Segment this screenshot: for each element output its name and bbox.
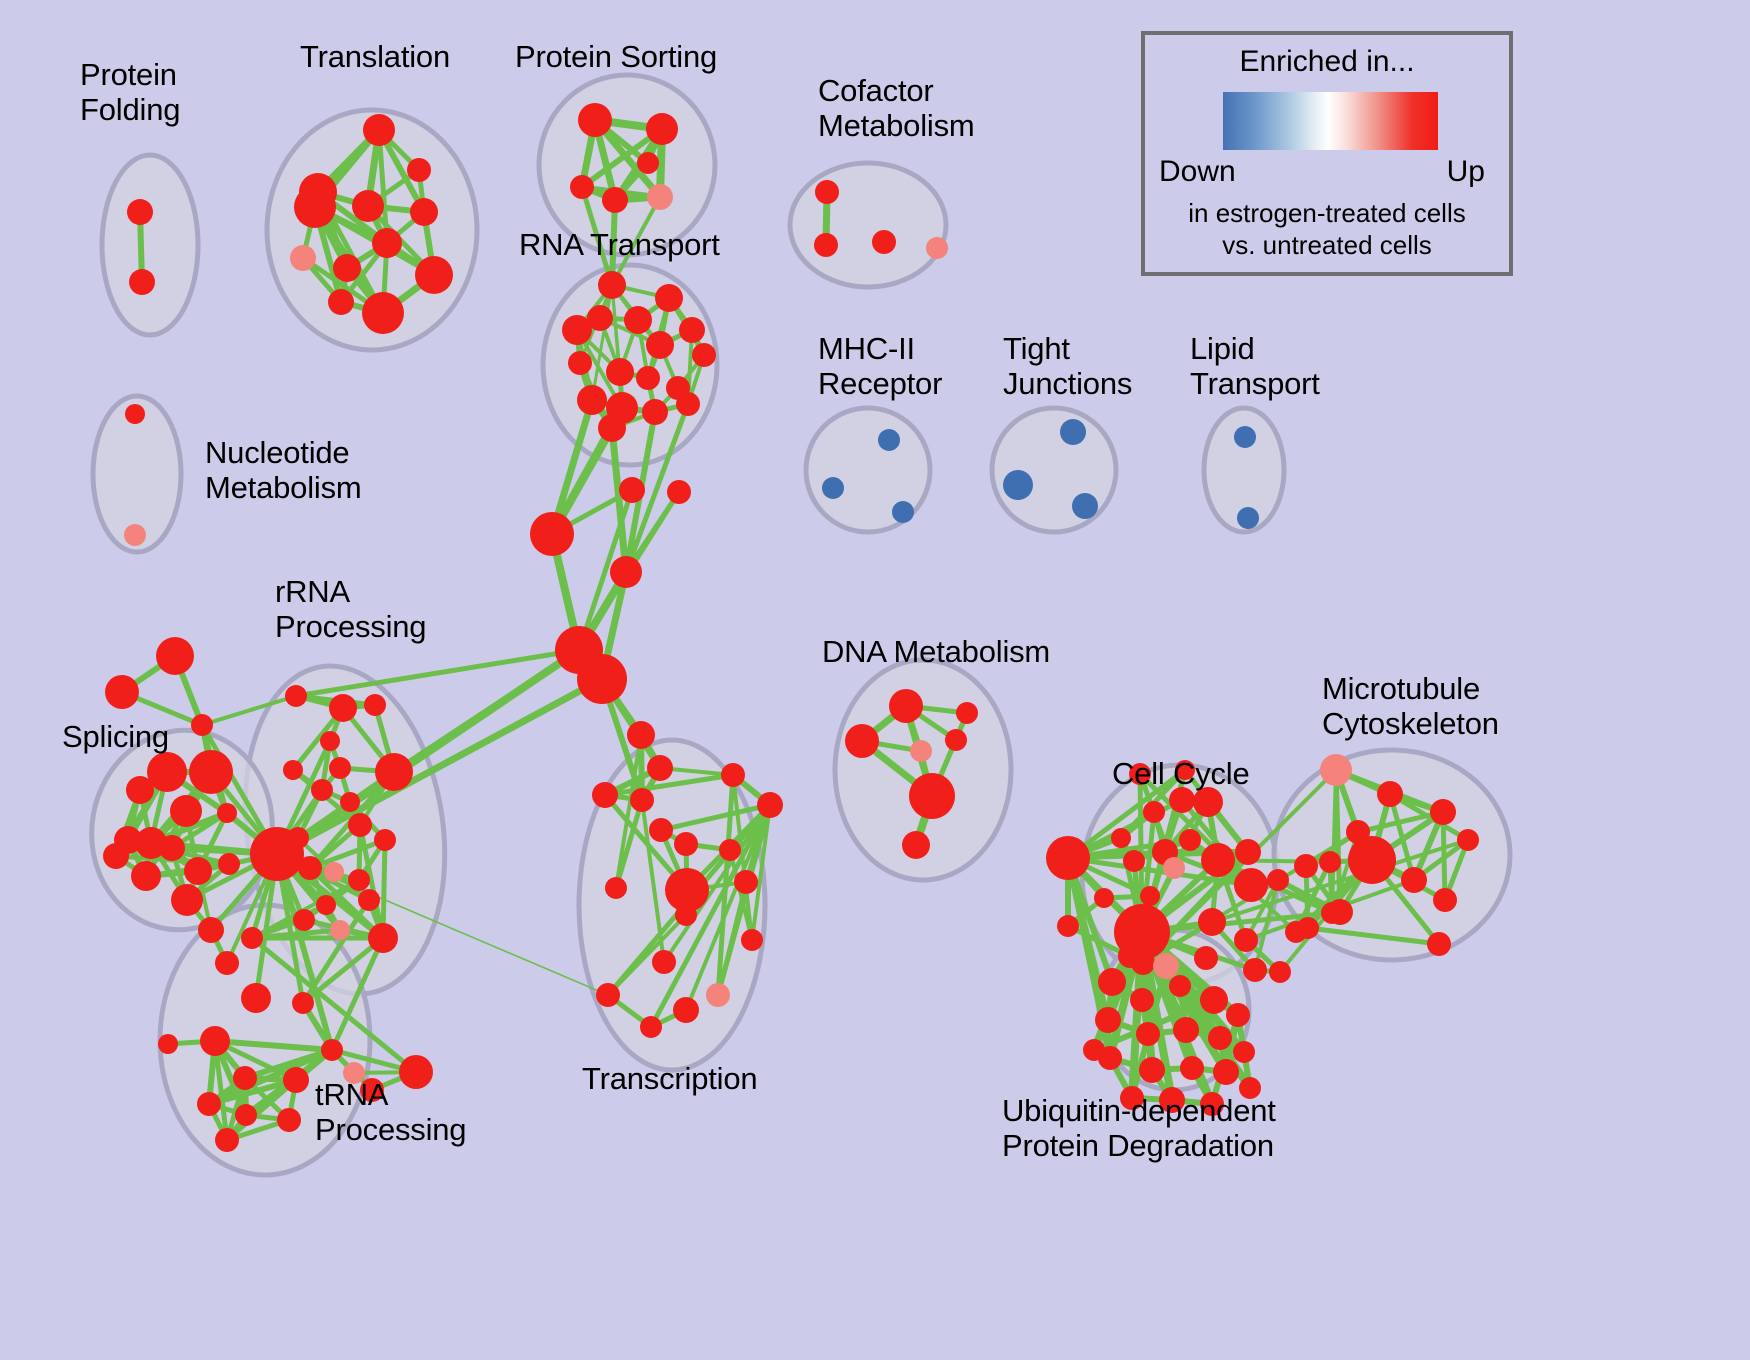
network-node[interactable] (1294, 854, 1318, 878)
network-node[interactable] (926, 237, 948, 259)
network-node[interactable] (368, 923, 398, 953)
network-node[interactable] (415, 256, 453, 294)
network-node[interactable] (191, 714, 213, 736)
network-node[interactable] (647, 755, 673, 781)
network-node[interactable] (362, 292, 404, 334)
network-node[interactable] (1243, 958, 1267, 982)
network-node[interactable] (103, 843, 129, 869)
network-node[interactable] (1401, 867, 1427, 893)
network-node[interactable] (679, 317, 705, 343)
network-node[interactable] (1433, 888, 1457, 912)
network-node[interactable] (674, 832, 698, 856)
network-node[interactable] (636, 366, 660, 390)
network-node[interactable] (293, 909, 315, 931)
legend-color-gradient-bar (1223, 92, 1438, 150)
network-node[interactable] (1123, 850, 1145, 872)
network-node[interactable] (1233, 1041, 1255, 1063)
network-node[interactable] (757, 792, 783, 818)
legend-subtitle-line1: in estrogen-treated cells (1145, 198, 1509, 230)
network-node[interactable] (171, 884, 203, 916)
network-node[interactable] (902, 831, 930, 859)
network-node[interactable] (602, 187, 628, 213)
legend-title: Enriched in... (1145, 45, 1509, 79)
network-node[interactable] (197, 1092, 221, 1116)
network-node[interactable] (822, 477, 844, 499)
network-node[interactable] (131, 861, 161, 891)
network-node[interactable] (348, 869, 370, 891)
network-node[interactable] (1234, 426, 1256, 448)
network-node[interactable] (105, 675, 139, 709)
network-node[interactable] (126, 776, 154, 804)
network-node[interactable] (577, 654, 627, 704)
network-node[interactable] (1083, 1039, 1105, 1061)
network-node[interactable] (1094, 888, 1114, 908)
network-node[interactable] (320, 731, 340, 751)
network-node[interactable] (363, 114, 395, 146)
network-node[interactable] (321, 1039, 343, 1061)
network-node[interactable] (1060, 419, 1086, 445)
cluster-label-trna-processing: tRNAProcessing (315, 1078, 466, 1147)
cluster-label-cell-cycle: Cell Cycle (1112, 757, 1250, 792)
network-node[interactable] (606, 358, 634, 386)
network-node[interactable] (646, 113, 678, 145)
network-node[interactable] (1457, 829, 1479, 851)
cluster-label-microtubule-cytoskeleton: MicrotubuleCytoskeleton (1322, 672, 1499, 741)
network-node[interactable] (340, 792, 360, 812)
network-node[interactable] (316, 895, 336, 915)
network-node[interactable] (637, 152, 659, 174)
network-node[interactable] (1234, 928, 1258, 952)
cluster-hull (992, 408, 1116, 532)
network-node[interactable] (215, 951, 239, 975)
network-node[interactable] (333, 254, 361, 282)
network-node[interactable] (667, 480, 691, 504)
network-node[interactable] (1194, 946, 1218, 970)
network-node[interactable] (910, 740, 932, 762)
legend-subtitle: in estrogen-treated cells vs. untreated … (1145, 198, 1509, 261)
network-node[interactable] (719, 839, 741, 861)
network-node[interactable] (587, 305, 613, 331)
network-node[interactable] (649, 818, 673, 842)
network-node[interactable] (170, 795, 202, 827)
network-node[interactable] (909, 773, 955, 819)
network-node[interactable] (1234, 868, 1268, 902)
cluster-label-ubiquitin-protein-degradation: Ubiquitin-dependentProtein Degradation (1002, 1094, 1276, 1163)
network-node[interactable] (218, 853, 240, 875)
network-node[interactable] (1163, 857, 1185, 879)
network-node[interactable] (845, 724, 879, 758)
network-node[interactable] (734, 870, 758, 894)
network-node[interactable] (1226, 1003, 1250, 1027)
network-node[interactable] (1319, 851, 1341, 873)
network-node[interactable] (364, 694, 386, 716)
network-node[interactable] (235, 1104, 257, 1126)
network-node[interactable] (184, 857, 212, 885)
network-node[interactable] (1208, 1026, 1232, 1050)
network-node[interactable] (1173, 1017, 1199, 1043)
network-node[interactable] (372, 228, 402, 258)
network-node[interactable] (1269, 961, 1291, 983)
network-node[interactable] (1057, 915, 1079, 937)
network-node[interactable] (375, 753, 413, 791)
network-node[interactable] (159, 835, 185, 861)
cluster-label-nucleotide-metabolism: NucleotideMetabolism (205, 436, 362, 505)
network-node[interactable] (328, 289, 354, 315)
network-node[interactable] (329, 694, 357, 722)
network-node[interactable] (605, 877, 627, 899)
network-node[interactable] (198, 917, 224, 943)
network-node[interactable] (1348, 836, 1396, 884)
cluster-label-splicing: Splicing (62, 720, 169, 755)
network-node[interactable] (352, 190, 384, 222)
network-node[interactable] (1095, 1007, 1121, 1033)
network-node[interactable] (741, 929, 763, 951)
network-node[interactable] (127, 199, 153, 225)
network-node[interactable] (294, 186, 336, 228)
network-node[interactable] (158, 1034, 178, 1054)
cluster-label-rna-transport: RNA Transport (519, 228, 720, 263)
network-node[interactable] (129, 269, 155, 295)
network-node[interactable] (241, 927, 263, 949)
network-node[interactable] (1180, 1056, 1204, 1080)
network-node[interactable] (292, 992, 314, 1014)
network-node[interactable] (1237, 507, 1259, 529)
network-node[interactable] (814, 233, 838, 257)
cluster-label-transcription: Transcription (582, 1062, 757, 1097)
network-node[interactable] (956, 702, 978, 724)
network-node[interactable] (530, 512, 574, 556)
network-node[interactable] (647, 184, 673, 210)
network-node[interactable] (1179, 829, 1201, 851)
network-node[interactable] (1200, 986, 1228, 1014)
network-node[interactable] (330, 920, 350, 940)
network-node[interactable] (578, 103, 612, 137)
network-node[interactable] (290, 245, 316, 271)
network-node[interactable] (233, 1066, 257, 1090)
network-node[interactable] (1327, 899, 1353, 925)
network-node[interactable] (1003, 470, 1033, 500)
network-node[interactable] (1136, 1022, 1160, 1046)
cluster-hull (790, 163, 946, 287)
network-node[interactable] (329, 757, 351, 779)
network-node[interactable] (1140, 886, 1160, 906)
network-node[interactable] (1118, 944, 1142, 968)
network-node[interactable] (570, 175, 594, 199)
network-node[interactable] (676, 392, 700, 416)
network-node[interactable] (1201, 843, 1235, 877)
network-node[interactable] (592, 782, 618, 808)
network-node[interactable] (630, 788, 654, 812)
cluster-label-lipid-transport: LipidTransport (1190, 332, 1320, 401)
network-node[interactable] (598, 271, 626, 299)
network-node[interactable] (1213, 1059, 1239, 1085)
network-node[interactable] (124, 524, 146, 546)
network-node[interactable] (815, 180, 839, 204)
network-node[interactable] (200, 1026, 230, 1056)
network-node[interactable] (1046, 836, 1090, 880)
network-node[interactable] (358, 889, 380, 911)
network-node[interactable] (1153, 953, 1179, 979)
network-node[interactable] (348, 813, 372, 837)
cluster-label-rrna-processing: rRNAProcessing (275, 575, 426, 644)
network-node[interactable] (1235, 839, 1261, 865)
network-node[interactable] (1267, 869, 1289, 891)
cluster-label-cofactor-metabolism: CofactorMetabolism (818, 74, 975, 143)
legend-subtitle-line2: vs. untreated cells (1145, 230, 1509, 262)
network-node[interactable] (311, 779, 333, 801)
network-node[interactable] (598, 414, 626, 442)
network-node[interactable] (872, 230, 896, 254)
cluster-label-mhc-ii-receptor: MHC-IIReceptor (818, 332, 942, 401)
network-node[interactable] (277, 1108, 301, 1132)
network-node[interactable] (215, 1128, 239, 1152)
network-node[interactable] (1098, 968, 1126, 996)
legend-down-label: Down (1159, 155, 1236, 189)
network-node[interactable] (692, 343, 716, 367)
network-node[interactable] (568, 351, 592, 375)
network-node[interactable] (285, 685, 307, 707)
network-node[interactable] (1169, 975, 1191, 997)
network-node[interactable] (283, 760, 303, 780)
network-figure: ProteinFolding Translation Protein Sorti… (0, 0, 1750, 1360)
network-node[interactable] (892, 501, 914, 523)
network-node[interactable] (624, 306, 652, 334)
cluster-label-tight-junctions: TightJunctions (1003, 332, 1132, 401)
network-node[interactable] (627, 721, 655, 749)
network-node[interactable] (1430, 799, 1456, 825)
network-node[interactable] (156, 637, 194, 675)
network-node[interactable] (283, 1067, 309, 1093)
network-node[interactable] (125, 404, 145, 424)
network-node[interactable] (655, 284, 683, 312)
network-node[interactable] (1143, 801, 1165, 823)
network-node[interactable] (596, 983, 620, 1007)
network-node[interactable] (619, 477, 645, 503)
network-node[interactable] (407, 158, 431, 182)
network-node[interactable] (642, 399, 668, 425)
network-node[interactable] (577, 385, 607, 415)
network-node[interactable] (878, 429, 900, 451)
network-node[interactable] (610, 556, 642, 588)
network-node[interactable] (945, 729, 967, 751)
legend-up-label: Up (1447, 155, 1485, 189)
cluster-label-translation: Translation (300, 40, 450, 75)
network-node[interactable] (250, 827, 304, 881)
network-node[interactable] (189, 750, 233, 794)
cluster-label-protein-folding: ProteinFolding (80, 58, 180, 127)
legend-box: Enriched in... Down Up in estrogen-treat… (1141, 31, 1513, 276)
network-node[interactable] (1297, 917, 1319, 939)
network-node[interactable] (1130, 988, 1154, 1012)
network-node[interactable] (241, 983, 271, 1013)
network-node[interactable] (675, 904, 697, 926)
network-node[interactable] (1072, 493, 1098, 519)
cluster-label-dna-metabolism: DNA Metabolism (822, 635, 1050, 670)
network-node[interactable] (1377, 781, 1403, 807)
network-node[interactable] (646, 331, 674, 359)
cluster-hull (102, 155, 198, 335)
network-node[interactable] (640, 1016, 662, 1038)
network-node[interactable] (410, 198, 438, 226)
cluster-label-protein-sorting: Protein Sorting (515, 40, 717, 75)
network-node[interactable] (1198, 908, 1226, 936)
network-node[interactable] (673, 997, 699, 1023)
network-node[interactable] (889, 689, 923, 723)
network-node[interactable] (374, 829, 396, 851)
network-node[interactable] (1111, 828, 1131, 848)
network-node[interactable] (721, 763, 745, 787)
network-node[interactable] (1427, 932, 1451, 956)
network-node[interactable] (324, 862, 344, 882)
network-node[interactable] (1320, 754, 1352, 786)
network-node[interactable] (652, 950, 676, 974)
network-node[interactable] (1139, 1057, 1165, 1083)
network-node[interactable] (217, 803, 237, 823)
network-node[interactable] (706, 983, 730, 1007)
